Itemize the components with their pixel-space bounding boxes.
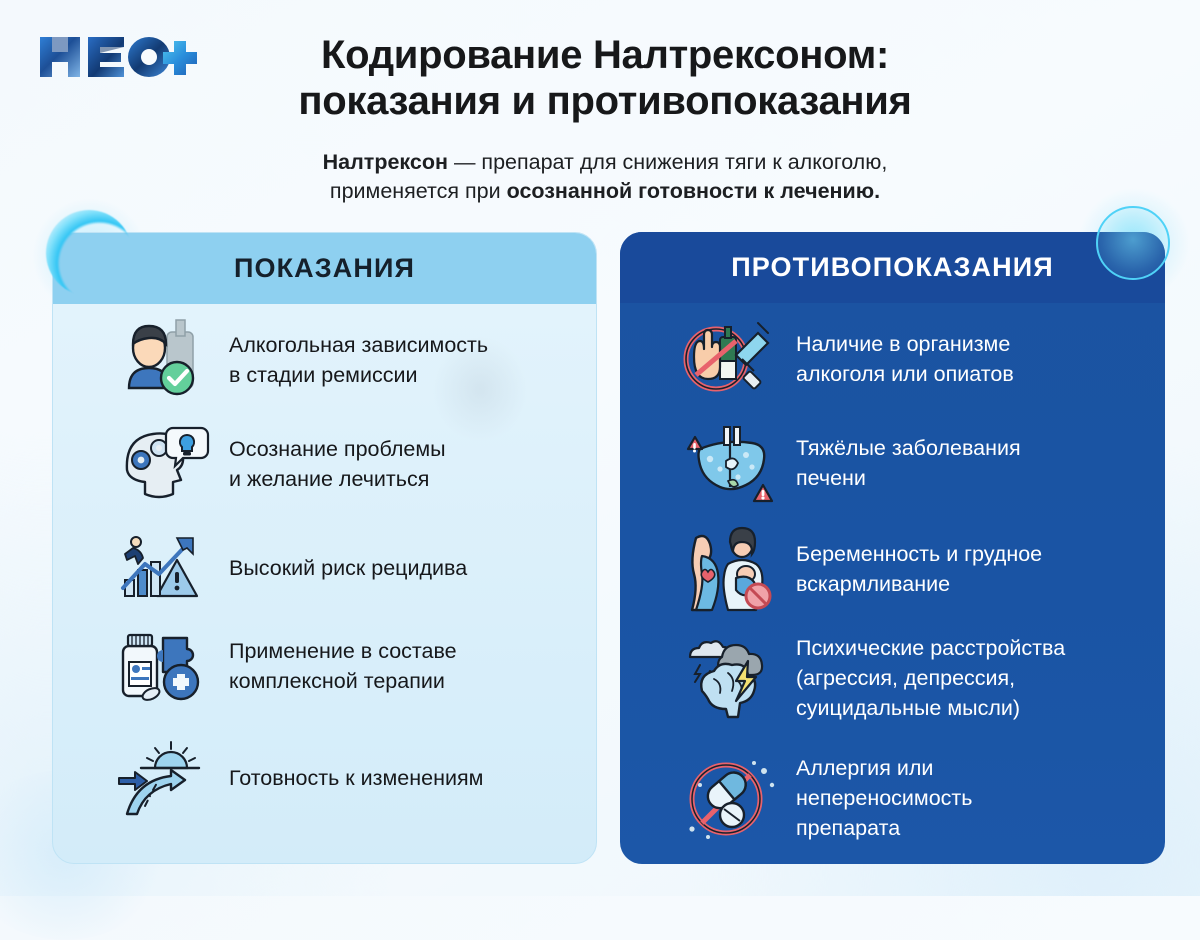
list-item-line-1: Наличие в организме — [796, 332, 1010, 356]
list-item-line-2: в стадии ремиссии — [229, 363, 417, 387]
subtitle-highlight: осознанной готовности к лечению. — [507, 179, 880, 203]
list-item-text: Наличие в организме алкоголя или опиатов — [796, 329, 1014, 389]
subtitle-drug-name: Налтрексон — [323, 150, 448, 174]
no-pills-allergy-icon — [678, 754, 782, 842]
subtitle-text-1: — препарат для снижения тяги к алкоголю, — [448, 150, 887, 174]
list-item-text: Готовность к изменениям — [229, 763, 483, 793]
card-indications-header: ПОКАЗАНИЯ — [53, 233, 596, 304]
list-item-line-2: (агрессия, депрессия, — [796, 666, 1015, 690]
card-contraindications-body: Наличие в организме алкоголя или опиатов — [620, 303, 1165, 864]
liver-warning-icon — [678, 419, 782, 507]
card-indications-title: ПОКАЗАНИЯ — [234, 253, 415, 284]
list-item-text: Высокий риск рецидива — [229, 553, 467, 583]
list-item-line-2: комплексной терапии — [229, 669, 445, 693]
page-subtitle: Налтрексон — препарат для снижения тяги … — [190, 148, 1020, 206]
list-item-text: Психические расстройства (агрессия, депр… — [796, 633, 1065, 723]
card-indications-body: Алкогольная зависимость в стадии ремисси… — [53, 304, 596, 864]
list-item-text: Тяжёлые заболевания печени — [796, 433, 1021, 493]
medicine-puzzle-cross-icon — [111, 622, 215, 710]
list-item-line-2: печени — [796, 466, 866, 490]
brain-storm-icon — [678, 634, 782, 722]
card-contraindications-title: ПРОТИВОПОКАЗАНИЯ — [731, 252, 1054, 283]
list-item-text: Аллергия или непереносимость препарата — [796, 753, 972, 843]
list-item-line-1: Аллергия или — [796, 756, 933, 780]
pregnancy-breastfeeding-icon — [678, 525, 782, 613]
page-title-line-1: Кодирование Налтрексоном: — [321, 33, 889, 77]
page-title-line-2: показания и противопоказания — [190, 78, 1020, 124]
list-item: Высокий риск рецидива — [53, 524, 596, 612]
list-item-line-3: препарата — [796, 816, 900, 840]
list-item: Осознание проблемы и желание лечиться — [53, 420, 596, 508]
list-item-line-1: Готовность к изменениям — [229, 766, 483, 790]
list-item: Применение в составе комплексной терапии — [53, 622, 596, 710]
sunrise-road-arrow-icon — [111, 734, 215, 822]
person-bottle-check-icon — [111, 316, 215, 404]
page-header: Кодирование Налтрексоном: показания и пр… — [0, 0, 1200, 212]
list-item-text: Применение в составе комплексной терапии — [229, 636, 457, 696]
list-item-line-2: и желание лечиться — [229, 467, 429, 491]
list-item-line-1: Алкогольная зависимость — [229, 333, 488, 357]
list-item-line-3: суицидальные мысли) — [796, 696, 1020, 720]
list-item-line-2: алкоголя или опиатов — [796, 362, 1014, 386]
list-item: Готовность к изменениям — [53, 734, 596, 822]
list-item-line-1: Осознание проблемы — [229, 437, 446, 461]
risk-growth-chart-icon — [111, 524, 215, 612]
list-item: Аллергия или непереносимость препарата — [620, 753, 1165, 843]
list-item-text: Осознание проблемы и желание лечиться — [229, 434, 446, 494]
list-item: Алкогольная зависимость в стадии ремисси… — [53, 316, 596, 404]
list-item-line-1: Психические расстройства — [796, 636, 1065, 660]
list-item-line-1: Высокий риск рецидива — [229, 556, 467, 580]
list-item: Беременность и грудное вскармливание — [620, 525, 1165, 613]
page-title: Кодирование Налтрексоном: показания и пр… — [190, 32, 1020, 124]
list-item-line-1: Беременность и грудное — [796, 542, 1042, 566]
no-alcohol-syringe-icon — [678, 315, 782, 403]
list-item: Психические расстройства (агрессия, депр… — [620, 633, 1165, 723]
list-item-text: Беременность и грудное вскармливание — [796, 539, 1042, 599]
list-item: Наличие в организме алкоголя или опиатов — [620, 315, 1165, 403]
list-item-line-2: непереносимость — [796, 786, 972, 810]
list-item-line-1: Тяжёлые заболевания — [796, 436, 1021, 460]
subtitle-text-2: применяется при — [330, 179, 507, 203]
head-gears-idea-icon — [111, 420, 215, 508]
list-item-line-2: вскармливание — [796, 572, 950, 596]
brand-logo — [36, 31, 206, 83]
card-contraindications-header: ПРОТИВОПОКАЗАНИЯ — [620, 232, 1165, 303]
card-indications: ПОКАЗАНИЯ Алкогольная зависимость в стад… — [52, 232, 597, 864]
list-item-line-1: Применение в составе — [229, 639, 457, 663]
list-item-text: Алкогольная зависимость в стадии ремисси… — [229, 330, 488, 390]
list-item: Тяжёлые заболевания печени — [620, 419, 1165, 507]
card-contraindications: ПРОТИВОПОКАЗАНИЯ — [620, 232, 1165, 864]
